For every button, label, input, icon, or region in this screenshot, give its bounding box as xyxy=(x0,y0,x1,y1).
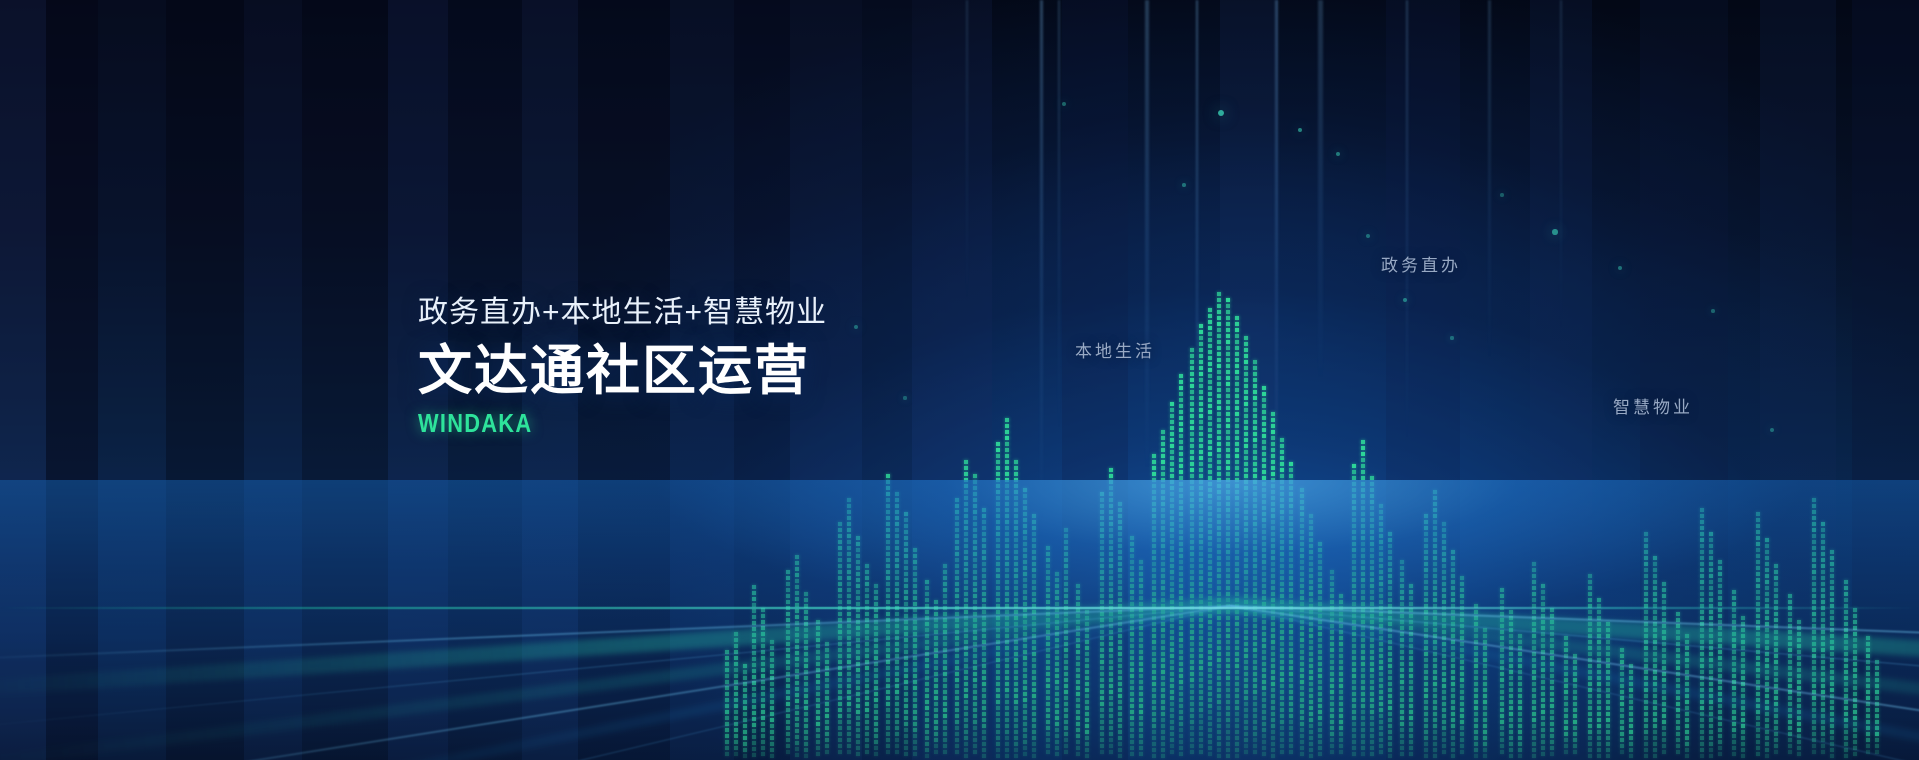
banner-title: 文达通社区运营 xyxy=(418,340,827,402)
skyline-label: 智慧物业 xyxy=(1613,398,1693,418)
banner-subtitle: 政务直办+本地生活+智慧物业 xyxy=(418,296,827,330)
hero-banner: 本地生活政务直办智慧物业 政务直办+本地生活+智慧物业 文达通社区运营 WIND… xyxy=(0,0,1919,760)
skyline-label: 政务直办 xyxy=(1381,256,1461,276)
brand-wordmark: WINDAKA xyxy=(418,408,762,438)
headline-text-block: 政务直办+本地生活+智慧物业 文达通社区运营 WINDAKA xyxy=(418,296,827,438)
horizon-glow-line xyxy=(0,607,1919,609)
perspective-ground xyxy=(0,480,1919,760)
skyline-label: 本地生活 xyxy=(1075,342,1155,362)
